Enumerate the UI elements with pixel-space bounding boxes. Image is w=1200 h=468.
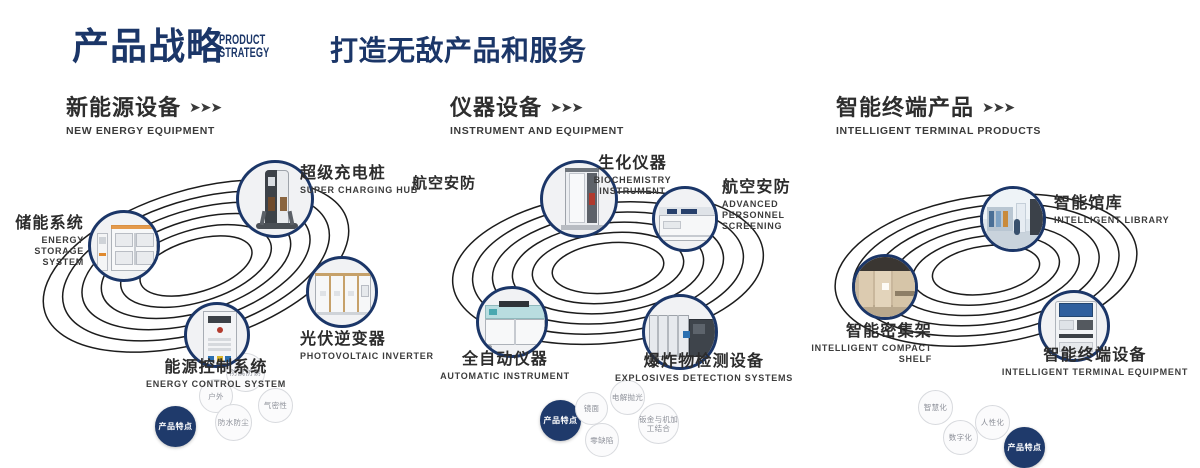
node-intelligent-library[interactable] [980,186,1046,252]
feature-bubble-2: 零缺陷 [585,423,619,457]
page-title-english: PRODUCT STRATEGY [219,33,269,59]
section-title-intelligent: 智能终端产品➤➤➤ [836,95,1041,120]
feature-bubble-3: 气密性 [258,388,293,423]
label-intelligent-terminal-equipment: 智能终端设备 INTELLIGENT TERMINAL EQUIPMENT [990,346,1200,378]
section-subtitle-new-energy: NEW ENERGY EQUIPMENT [66,125,221,137]
page-title: 产品战略 [72,28,224,65]
inverter-cabinet-icon [309,259,375,325]
chevrons-right-icon: ➤➤➤ [550,95,582,119]
section-title-new-energy: 新能源设备➤➤➤ [66,95,221,120]
label-intelligent-library: 智能馆库 INTELLIGENT LIBRARY [1054,194,1169,226]
control-cabinet-icon [187,305,247,365]
node-advanced-personnel-screening[interactable] [652,186,718,252]
feature-bubble-2: 防水防尘 [215,404,252,441]
section-subtitle-intelligent: INTELLIGENT TERMINAL PRODUCTS [836,125,1041,137]
label-automatic-instrument: 全自动仪器 AUTOMATIC INSTRUMENT [410,350,600,382]
infographic-page: 产品战略 PRODUCT STRATEGY 打造无敌产品和服务 新能源设备➤➤➤… [0,0,1200,422]
page-title-english-line2: STRATEGY [219,46,269,59]
page-subtitle: 打造无敌产品和服务 [330,37,587,65]
node-automatic-instrument[interactable] [476,286,548,358]
feature-bubble-2: 人性化 [975,405,1010,440]
label-energy-storage-system: 储能系统 ENERGY STORAGE SYSTEM [0,214,84,268]
section-header-new-energy: 新能源设备➤➤➤ NEW ENERGY EQUIPMENT [66,95,221,137]
section-subtitle-instrument: INSTRUMENT AND EQUIPMENT [450,125,624,137]
compact-shelf-icon [855,257,915,317]
feature-bubble-1: 数字化 [943,420,978,455]
feature-bubble-1: 电解抛光 [610,380,645,415]
feature-bubble-0: 智慧化 [918,390,953,425]
page-header: 产品战略 PRODUCT STRATEGY 打造无敌产品和服务 [0,0,1200,86]
chevrons-right-icon: ➤➤➤ [982,95,1014,119]
cluster-instrument: 产品特点 镜面 电解抛光 零缺陷 钣金与机加工结合 航空安防 生化仪器 BIOC… [400,150,820,410]
battery-cabinet-icon [91,213,157,279]
node-photovoltaic-inverter[interactable] [306,256,378,328]
chevrons-right-icon: ➤➤➤ [189,95,221,119]
screening-machine-icon [655,189,715,249]
section-header-instrument: 仪器设备➤➤➤ INSTRUMENT AND EQUIPMENT [450,95,624,137]
core-bubble-new-energy: 产品特点 [155,406,196,447]
cluster-intelligent: 智慧化 数字化 人性化 产品特点 智能馆库 INTELLIGENT LIBRAR… [790,150,1200,410]
node-energy-storage-system[interactable] [88,210,160,282]
feature-bubble-0: 镜面 [575,392,608,425]
overlay-label-aviation-security: 航空安防 [412,175,476,193]
library-room-icon [983,189,1043,249]
label-energy-control-system: 能源控制系统 ENERGY CONTROL SYSTEM [116,358,316,390]
section-header-intelligent: 智能终端产品➤➤➤ INTELLIGENT TERMINAL PRODUCTS [836,95,1041,137]
section-title-instrument: 仪器设备➤➤➤ [450,95,624,120]
label-explosives-detection-systems: 爆炸物检测设备 EXPLOSIVES DETECTION SYSTEMS [604,352,804,384]
core-bubble-intelligent: 产品特点 [1004,427,1045,468]
auto-instrument-icon [479,289,545,355]
label-intelligent-compact-shelf: 智能密集架 INTELLIGENT COMPACT SHELF [780,322,932,365]
cluster-new-energy: 产品特点 户外 防腐防锈 防水防尘 气密性 储能系统 ENERGY STORAG… [0,150,420,410]
node-intelligent-compact-shelf[interactable] [852,254,918,320]
feature-bubble-3: 钣金与机加工结合 [638,403,679,444]
